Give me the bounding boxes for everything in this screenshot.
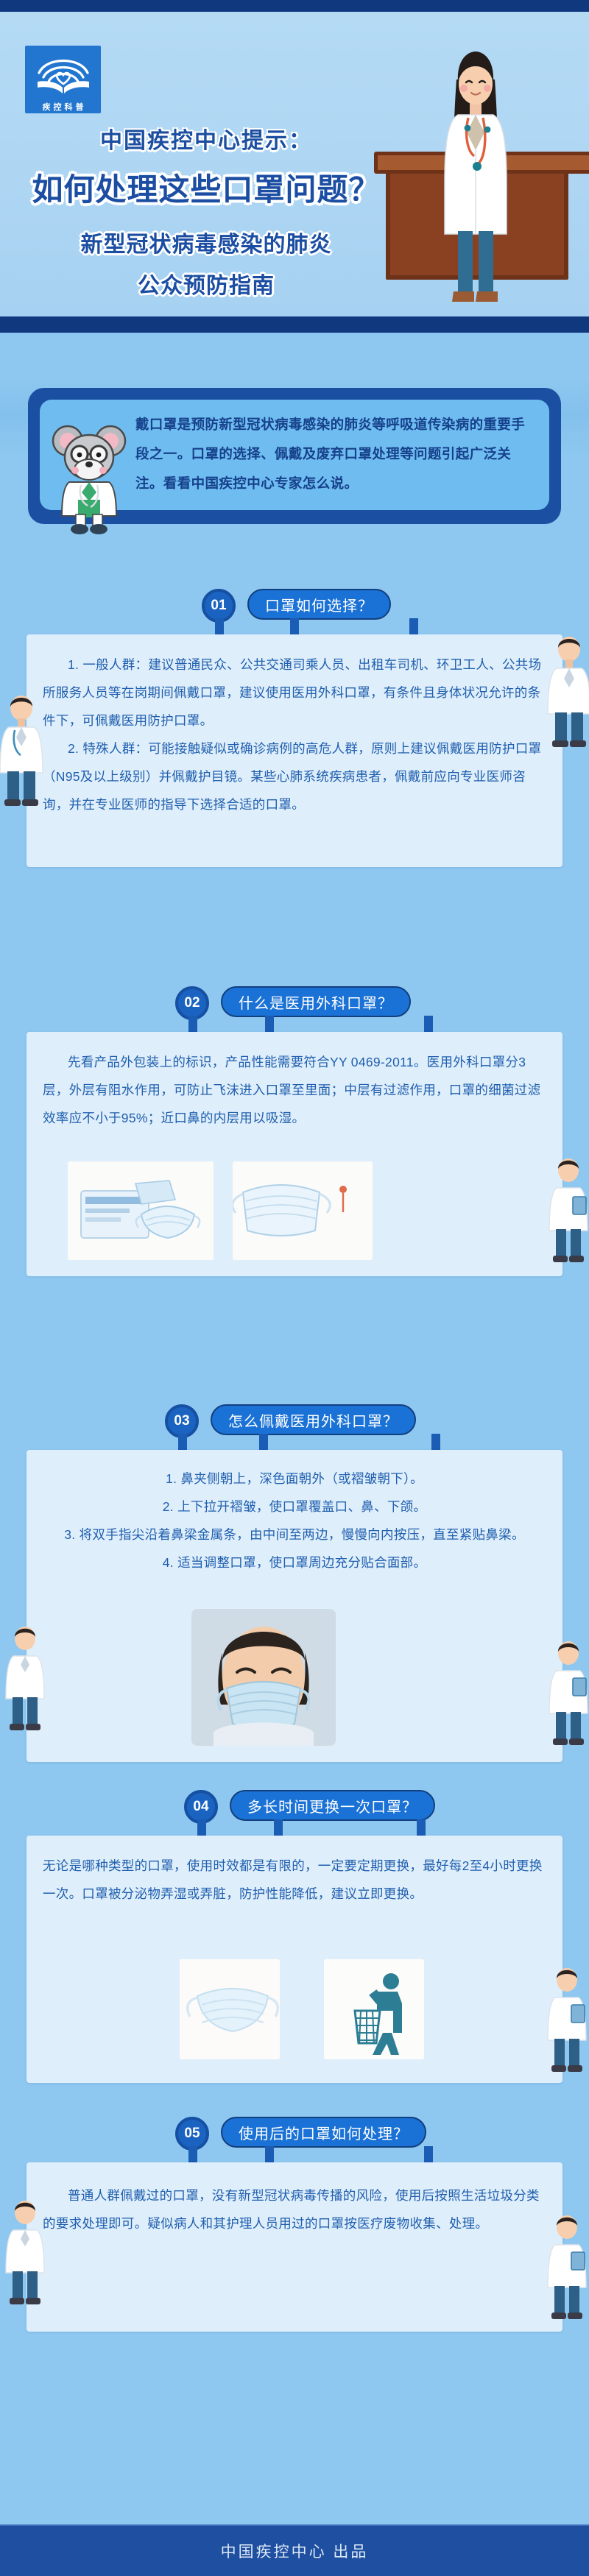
hero-title-group: 中国疾控中心提示： 如何处理这些口罩问题？ 新型冠状病毒感染的肺炎 公众预防指南 <box>0 122 412 300</box>
doctor-side-illustration-right <box>546 1638 589 1749</box>
infographic-page: 疾控科普 中国疾控中心提示： 如何处理这些口罩问题？ 新型冠状病毒感染的肺炎 公… <box>0 0 589 2576</box>
book-sunrise-heart-logo-icon <box>32 46 95 99</box>
section-04-paragraph-1: 无论是哪种类型的口罩，使用时效都是有限的，一定要定期更换，最好每2至4小时更换一… <box>27 1852 562 1908</box>
section-05-card: 普通人群佩戴过的口罩，没有新型冠状病毒传播的风险，使用后按照生活垃圾分类的要求处… <box>27 2162 562 2332</box>
hero-line-4: 公众预防指南 <box>0 267 412 300</box>
top-accent-bar <box>0 0 589 12</box>
section-04: 04 多长时间更换一次口罩？ 无论是哪种类型的口罩，使用时效都是有限的，一定要定… <box>0 1790 589 1821</box>
hero-line-3: 新型冠状病毒感染的肺炎 <box>0 226 412 258</box>
hero-line-2: 如何处理这些口罩问题？ <box>0 165 412 210</box>
surgical-mask-packaging-photo <box>68 1161 214 1260</box>
doctor-side-illustration-right <box>543 2212 589 2323</box>
section-05-paragraph-1: 普通人群佩戴过的口罩，没有新型冠状病毒传播的风险，使用后按照生活垃圾分类的要求处… <box>27 2182 562 2237</box>
throw-in-bin-icon <box>324 1959 424 2059</box>
section-03-paragraph-4: 4. 适当调整口罩，使口罩周边充分贴合面部。 <box>27 1549 562 1577</box>
intro-callout: 戴口罩是预防新型冠状病毒感染的肺炎等呼吸道传染病的重要手段之一。口罩的选择、佩戴… <box>28 388 561 524</box>
section-04-title: 多长时间更换一次口罩？ <box>230 1790 435 1821</box>
section-05: 05 使用后的口罩如何处理？ 普通人群佩戴过的口罩，没有新型冠状病毒传播的风险，… <box>0 2117 589 2148</box>
section-divider-band <box>0 316 589 333</box>
section-03-paragraph-1: 1. 鼻夹侧朝上，深色面朝外（或褶皱朝下）。 <box>27 1465 562 1493</box>
section-03: 03 怎么佩戴医用外科口罩？ 1. 鼻夹侧朝上，深色面朝外（或褶皱朝下）。 2.… <box>0 1404 589 1435</box>
person-wearing-mask-photo <box>191 1609 336 1746</box>
section-02: 02 什么是医用外科口罩？ 先看产品外包装上的标识，产品性能需要符合YY 046… <box>0 986 589 1017</box>
mask-layers-photo <box>233 1161 373 1260</box>
surgical-mask-icon <box>180 1959 280 2059</box>
china-cdc-logo: 疾控科普 <box>25 46 101 113</box>
doctor-side-illustration-right <box>543 633 589 743</box>
section-01-paragraph-1: 1. 一般人群：建议普通民众、公共交通司乘人员、出租车司机、环卫工人、公共场所服… <box>27 651 562 735</box>
doctor-side-illustration-left <box>0 692 43 802</box>
mascot-mouse-doctor-icon <box>49 419 130 537</box>
section-03-paragraph-3: 3. 将双手指尖沿着鼻梁金属条，由中间至两边，慢慢向内按压，直至紧贴鼻梁。 <box>27 1521 562 1549</box>
hero-banner: 疾控科普 中国疾控中心提示： 如何处理这些口罩问题？ 新型冠状病毒感染的肺炎 公… <box>0 12 589 316</box>
footer-text: 中国疾控中心 出品 <box>221 2540 369 2562</box>
section-01-paragraph-2: 2. 特殊人群：可能接触疑似或确诊病例的高危人群，原则上建议佩戴医用防护口罩（N… <box>27 735 562 818</box>
female-doctor-illustration <box>431 41 520 316</box>
section-04-card: 无论是哪种类型的口罩，使用时效都是有限的，一定要定期更换，最好每2至4小时更换一… <box>27 1836 562 2083</box>
section-05-title: 使用后的口罩如何处理？ <box>221 2117 426 2148</box>
doctor-side-illustration-right <box>543 1965 589 2076</box>
doctor-side-illustration-right <box>546 1156 589 1266</box>
section-02-paragraph-1: 先看产品外包装上的标识，产品性能需要符合YY 0469-2011。医用外科口罩分… <box>27 1048 562 1132</box>
section-03-title: 怎么佩戴医用外科口罩？ <box>211 1404 416 1435</box>
section-01: 01 口罩如何选择？ 1. 一般人群：建议普通民众、公共交通司乘人员、出租车司机… <box>0 589 589 620</box>
footer: 中国疾控中心 出品 <box>0 2524 589 2576</box>
intro-text: 戴口罩是预防新型冠状病毒感染的肺炎等呼吸道传染病的重要手段之一。口罩的选择、佩戴… <box>135 410 536 498</box>
section-01-title: 口罩如何选择？ <box>247 589 391 620</box>
doctor-side-illustration-left <box>1 2198 49 2308</box>
hero-line-1: 中国疾控中心提示： <box>0 122 412 155</box>
content-area: 戴口罩是预防新型冠状病毒感染的肺炎等呼吸道传染病的重要手段之一。口罩的选择、佩戴… <box>0 333 589 2524</box>
section-03-paragraph-2: 2. 上下拉开褶皱，使口罩覆盖口、鼻、下颌。 <box>27 1493 562 1521</box>
doctor-side-illustration-left <box>3 1624 50 1734</box>
section-01-card: 1. 一般人群：建议普通民众、公共交通司乘人员、出租车司机、环卫工人、公共场所服… <box>27 634 562 867</box>
section-02-title: 什么是医用外科口罩？ <box>221 986 411 1017</box>
logo-label: 疾控科普 <box>40 101 87 113</box>
